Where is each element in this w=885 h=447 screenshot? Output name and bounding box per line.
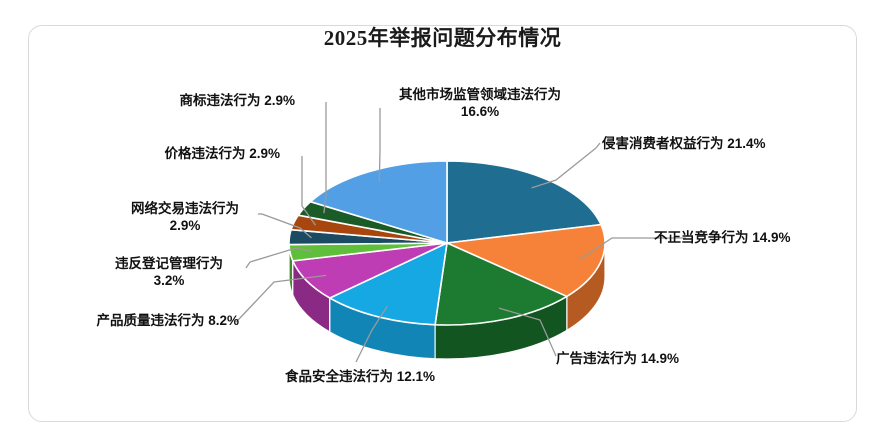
pie-label-registration: 违反登记管理行为 3.2% [84, 255, 254, 289]
pie-slices [289, 161, 605, 359]
pie-label-trademark: 商标违法行为 2.9% [110, 92, 295, 109]
pie-label-advertising: 广告违法行为 14.9% [556, 350, 796, 367]
pie-label-unfair-competition: 不正当竞争行为 14.9% [654, 229, 885, 246]
pie-label-food-safety: 食品安全违法行为 12.1% [240, 368, 480, 385]
pie-label-consumer-rights: 侵害消费者权益行为 21.4% [602, 135, 882, 152]
pie-label-other: 其他市场监管领域违法行为 16.6% [335, 86, 625, 120]
pie-label-online-trade: 网络交易违法行为 2.9% [100, 200, 270, 234]
pie-label-price-violation: 价格违法行为 2.9% [100, 145, 280, 162]
pie-label-product-quality: 产品质量违法行为 8.2% [24, 312, 239, 329]
